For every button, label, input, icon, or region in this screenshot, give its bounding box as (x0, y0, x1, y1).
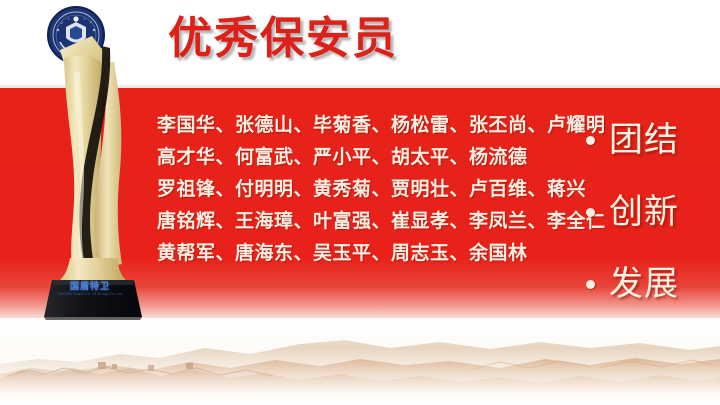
name-line: 高才华、何富武、严小平、胡太平、杨流德 (157, 142, 567, 174)
name-line: 罗祖锋、付明明、黄秀菊、贾明壮、卢百维、蒋兴 (157, 174, 567, 206)
trophy-graphic (30, 2, 170, 322)
slogan-item: 团结 (586, 104, 706, 176)
background-band-white-bottom (0, 322, 720, 405)
slogan-label: 创新 (609, 193, 679, 231)
bullet-dot-icon (586, 208, 595, 217)
slogan-list: 团结 创新 发展 (586, 104, 706, 320)
page-title: 优秀保安员 (168, 12, 398, 66)
name-line: 李国华、张德山、毕菊香、杨松雷、张丕尚、卢耀明 (157, 110, 567, 142)
slogan-item: 创新 (586, 176, 706, 248)
bullet-dot-icon (586, 280, 595, 289)
name-line: 黄帮军、唐海东、吴玉平、周志玉、余国林 (157, 238, 567, 270)
name-line: 唐铭辉、王海璋、叶富强、崔显孝、李凤兰、李全仁 (157, 206, 567, 238)
slogan-label: 团结 (609, 121, 679, 159)
trophy-base-brand-subtext: GUOUN Guard Co. Of Group Co.,Ltd (52, 292, 128, 296)
bullet-dot-icon (586, 136, 595, 145)
honoree-name-list: 李国华、张德山、毕菊香、杨松雷、张丕尚、卢耀明 高才华、何富武、严小平、胡太平、… (157, 110, 567, 270)
trophy-base-brand-text: 国盾特卫 (52, 281, 128, 291)
poster-canvas: 国盾特卫 GUOUN Guard Co. Of Group Co.,Ltd 优秀… (0, 0, 720, 405)
slogan-item: 发展 (586, 248, 706, 320)
slogan-label: 发展 (609, 265, 679, 303)
